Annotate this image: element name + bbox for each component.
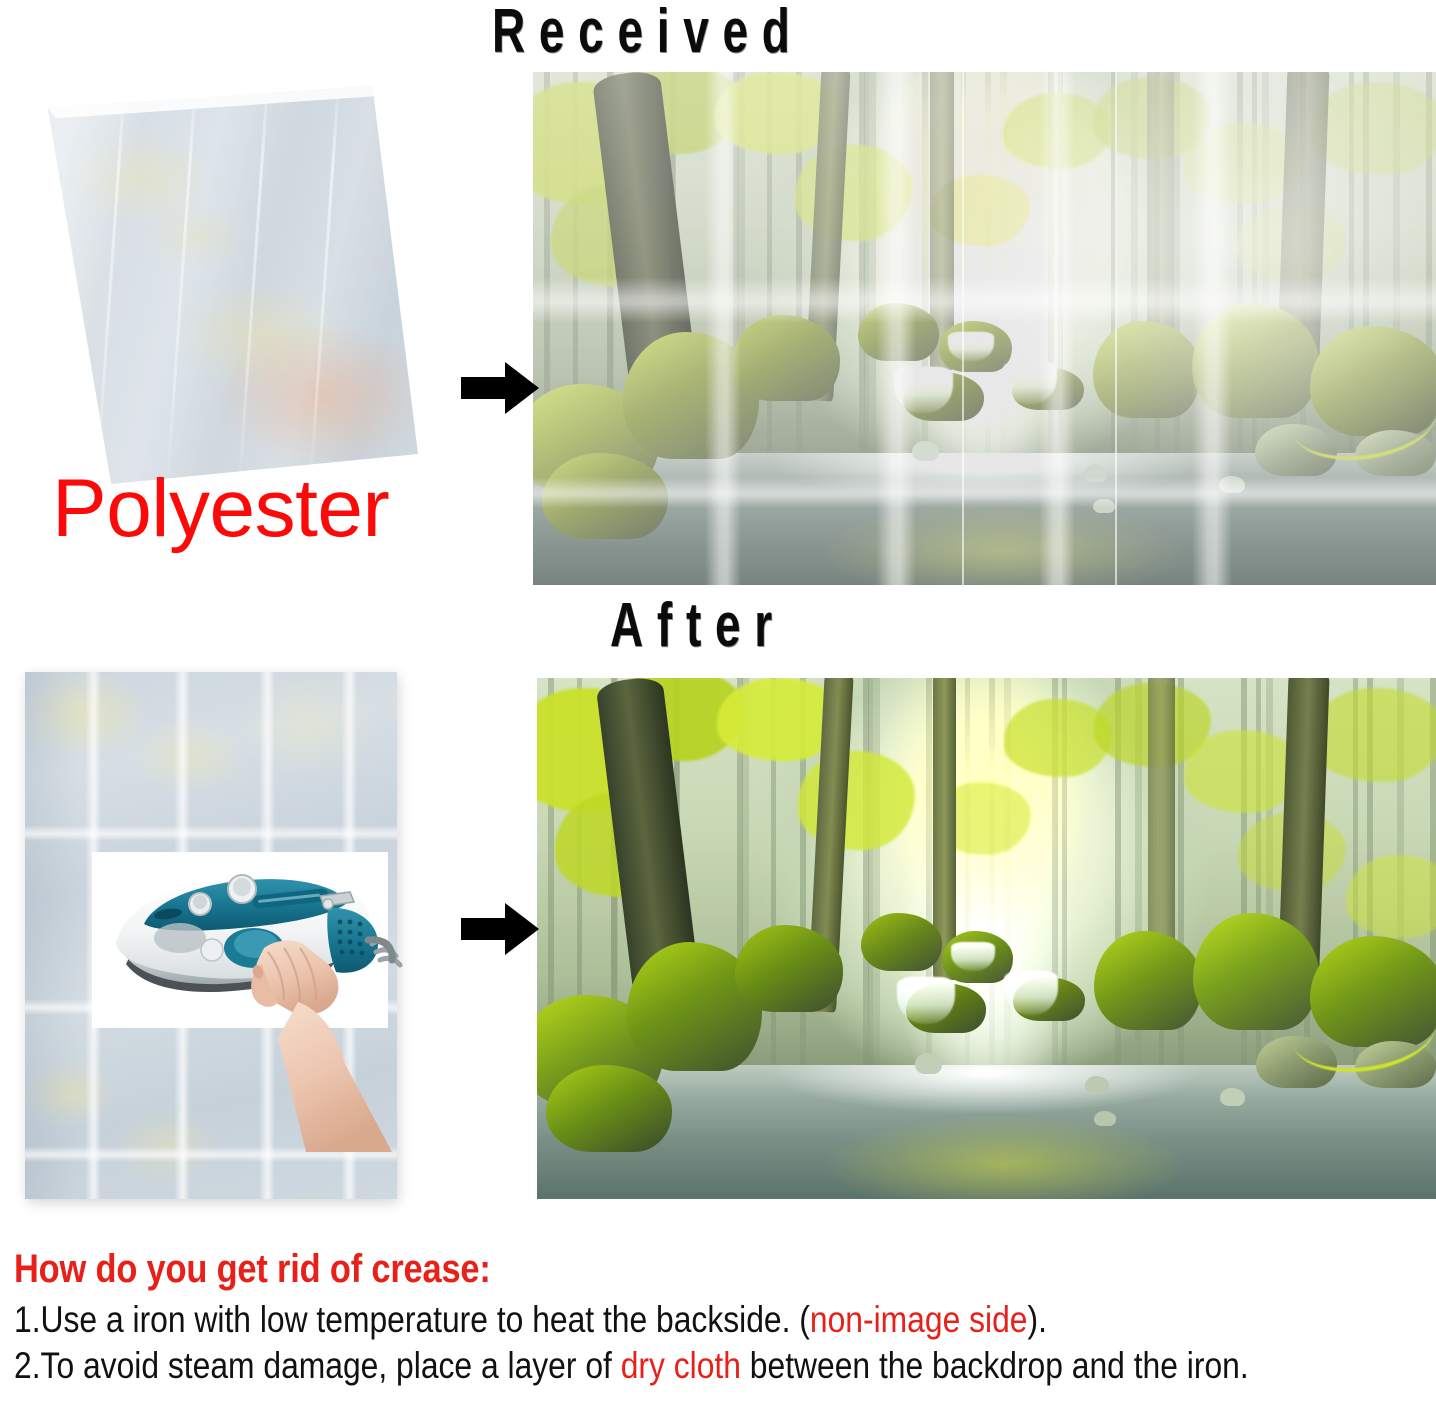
instruction-2-prefix: 2.To avoid steam damage, place a layer o… [14,1345,621,1386]
panel-shading [25,672,79,1199]
care-instructions: How do you get rid of crease: 1.Use a ir… [0,1248,1436,1388]
instruction-1-prefix: 1.Use a iron with low temperature to hea… [14,1299,810,1340]
rocky-stream [537,907,1436,1199]
received-backdrop-photo [533,72,1436,585]
received-scene [533,72,1436,585]
iron-illustration [92,852,388,1028]
instruction-2-highlight: dry cloth [621,1345,741,1386]
instructions-heading: How do you get rid of crease: [14,1248,1237,1290]
instruction-1-suffix: ). [1027,1299,1046,1340]
instruction-1-highlight: non-image side [810,1299,1028,1340]
rocky-stream [533,298,1436,585]
received-section-title: Received [492,0,804,67]
arrow-right-icon [461,901,539,957]
panel-horizontal-crease [25,825,397,841]
after-section-title: After [610,590,786,661]
instruction-2-suffix: between the backdrop and the iron. [741,1345,1249,1386]
folded-polyester-fabric [22,84,418,484]
after-backdrop-photo [537,678,1436,1199]
instruction-line-2: 2.To avoid steam damage, place a layer o… [14,1344,1237,1388]
after-scene [537,678,1436,1199]
arrow-right-icon [461,360,539,416]
iron-demo-photo [92,852,388,1028]
fabric-highlight [22,84,418,484]
instruction-line-1: 1.Use a iron with low temperature to hea… [14,1298,1237,1342]
waterfall [948,332,993,361]
polyester-material-label: Polyester [52,462,389,556]
